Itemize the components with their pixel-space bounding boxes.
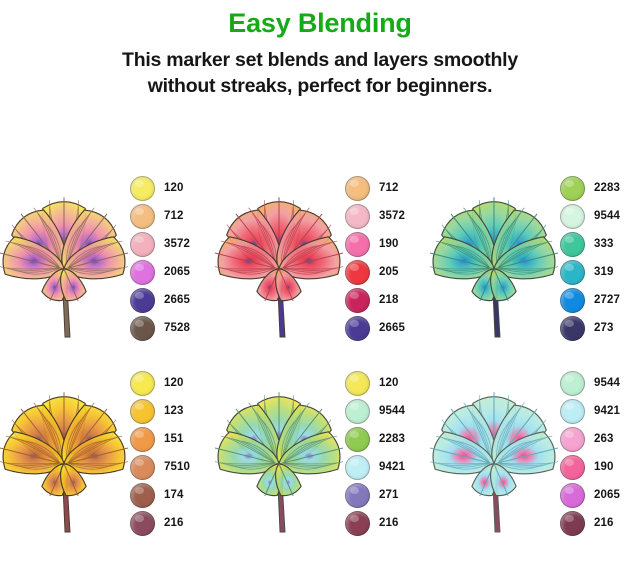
marker-color-dot	[345, 288, 370, 313]
marker-color-dot	[345, 511, 370, 536]
marker-swatch-row: 263	[560, 425, 640, 453]
marker-code-label: 9544	[594, 377, 620, 389]
subtitle-line-2: without streaks, perfect for beginners.	[0, 74, 640, 100]
marker-color-dot	[560, 204, 585, 229]
marker-code-label: 151	[164, 433, 184, 445]
marker-swatch-list: 120954422839421271216	[343, 362, 430, 537]
marker-swatch-row: 120	[345, 369, 430, 397]
marker-color-dot	[560, 511, 585, 536]
marker-code-label: 712	[164, 210, 184, 222]
marker-swatch-row: 9544	[345, 397, 430, 425]
marker-swatch-list: 954494212631902065216	[558, 362, 640, 537]
page-subtitle: This marker set blends and layers smooth…	[0, 39, 640, 99]
marker-swatch-row: 319	[560, 258, 640, 286]
marker-code-label: 9421	[379, 461, 405, 473]
marker-color-dot	[560, 260, 585, 285]
marker-swatch-row: 2283	[345, 425, 430, 453]
marker-code-label: 3572	[164, 238, 190, 250]
marker-color-dot	[130, 483, 155, 508]
marker-code-label: 2065	[164, 266, 190, 278]
marker-swatch-row: 218	[345, 286, 430, 314]
marker-code-label: 2283	[594, 182, 620, 194]
marker-swatch-row: 3572	[130, 230, 215, 258]
marker-code-label: 9544	[379, 405, 405, 417]
panel-yellow-orange-brown: 1201231517510174216	[0, 352, 215, 547]
marker-color-dot	[345, 455, 370, 480]
marker-color-dot	[560, 399, 585, 424]
marker-color-dot	[345, 176, 370, 201]
marker-code-label: 120	[164, 182, 184, 194]
leaf-illustration	[430, 360, 558, 540]
marker-code-label: 319	[594, 266, 614, 278]
marker-swatch-row: 123	[130, 397, 215, 425]
marker-code-label: 263	[594, 433, 614, 445]
marker-color-dot	[130, 399, 155, 424]
marker-code-label: 7528	[164, 322, 190, 334]
marker-swatch-row: 120	[130, 369, 215, 397]
leaf-illustration	[215, 360, 343, 540]
marker-code-label: 205	[379, 266, 399, 278]
leaf-panel-grid: 1207123572206526657528712357219020521826…	[0, 157, 640, 563]
marker-code-label: 123	[164, 405, 184, 417]
marker-swatch-row: 216	[345, 509, 430, 537]
leaf-illustration	[215, 165, 343, 345]
panel-mint-blue-pink: 954494212631902065216	[430, 352, 640, 547]
marker-swatch-row: 216	[130, 509, 215, 537]
marker-swatch-row: 712	[130, 202, 215, 230]
marker-color-dot	[345, 483, 370, 508]
marker-color-dot	[130, 511, 155, 536]
marker-code-label: 3572	[379, 210, 405, 222]
marker-code-label: 2065	[594, 489, 620, 501]
panel-yellow-pink-purple: 1207123572206526657528	[0, 157, 215, 352]
leaf-artwork	[0, 165, 128, 345]
marker-swatch-row: 333	[560, 230, 640, 258]
marker-color-dot	[560, 288, 585, 313]
marker-code-label: 216	[379, 517, 399, 529]
marker-swatch-row: 190	[560, 453, 640, 481]
marker-swatch-row: 2065	[560, 481, 640, 509]
marker-swatch-row: 9544	[560, 369, 640, 397]
marker-color-dot	[130, 371, 155, 396]
marker-swatch-row: 7528	[130, 314, 215, 342]
marker-color-dot	[130, 204, 155, 229]
leaf-artwork	[430, 360, 558, 540]
marker-swatch-row: 9421	[560, 397, 640, 425]
marker-swatch-row: 2727	[560, 286, 640, 314]
marker-code-label: 218	[379, 294, 399, 306]
marker-code-label: 712	[379, 182, 399, 194]
marker-swatch-row: 216	[560, 509, 640, 537]
marker-color-dot	[130, 232, 155, 257]
marker-color-dot	[130, 260, 155, 285]
marker-swatch-row: 174	[130, 481, 215, 509]
marker-color-dot	[130, 427, 155, 452]
marker-color-dot	[345, 204, 370, 229]
marker-code-label: 2283	[379, 433, 405, 445]
leaf-artwork	[0, 360, 128, 540]
marker-color-dot	[560, 483, 585, 508]
leaf-artwork	[430, 165, 558, 345]
page-title: Easy Blending	[0, 4, 640, 39]
marker-code-label: 271	[379, 489, 399, 501]
marker-swatch-list: 228395443333192727273	[558, 167, 640, 342]
marker-color-dot	[130, 316, 155, 341]
marker-color-dot	[345, 316, 370, 341]
panel-green-teal-blue: 228395443333192727273	[430, 157, 640, 352]
marker-code-label: 273	[594, 322, 614, 334]
marker-code-label: 7510	[164, 461, 190, 473]
leaf-illustration	[0, 360, 128, 540]
marker-color-dot	[345, 427, 370, 452]
marker-color-dot	[345, 399, 370, 424]
leaf-artwork	[215, 165, 343, 345]
marker-code-label: 9544	[594, 210, 620, 222]
marker-color-dot	[345, 371, 370, 396]
marker-swatch-list: 1201231517510174216	[128, 362, 215, 537]
marker-color-dot	[560, 455, 585, 480]
subtitle-line-1: This marker set blends and layers smooth…	[0, 48, 640, 74]
marker-swatch-row: 7510	[130, 453, 215, 481]
marker-code-label: 216	[164, 517, 184, 529]
marker-color-dot	[130, 288, 155, 313]
panel-orange-red-purple: 71235721902052182665	[215, 157, 430, 352]
marker-code-label: 190	[594, 461, 614, 473]
marker-code-label: 9421	[594, 405, 620, 417]
marker-code-label: 2727	[594, 294, 620, 306]
marker-swatch-list: 1207123572206526657528	[128, 167, 215, 342]
leaf-illustration	[0, 165, 128, 345]
leaf-artwork	[215, 360, 343, 540]
marker-swatch-row: 190	[345, 230, 430, 258]
marker-color-dot	[345, 232, 370, 257]
marker-swatch-row: 9421	[345, 453, 430, 481]
header-block: Easy Blending This marker set blends and…	[0, 0, 640, 100]
marker-code-label: 2665	[379, 322, 405, 334]
marker-color-dot	[560, 232, 585, 257]
marker-code-label: 120	[379, 377, 399, 389]
marker-swatch-row: 712	[345, 174, 430, 202]
marker-color-dot	[560, 371, 585, 396]
marker-code-label: 120	[164, 377, 184, 389]
marker-swatch-row: 151	[130, 425, 215, 453]
marker-swatch-row: 120	[130, 174, 215, 202]
marker-color-dot	[130, 176, 155, 201]
leaf-illustration	[430, 165, 558, 345]
marker-color-dot	[130, 455, 155, 480]
marker-swatch-row: 2065	[130, 258, 215, 286]
marker-code-label: 333	[594, 238, 614, 250]
marker-swatch-row: 271	[345, 481, 430, 509]
marker-color-dot	[560, 427, 585, 452]
marker-color-dot	[560, 316, 585, 341]
marker-code-label: 174	[164, 489, 184, 501]
marker-swatch-row: 273	[560, 314, 640, 342]
marker-code-label: 2665	[164, 294, 190, 306]
marker-swatch-row: 2665	[345, 314, 430, 342]
marker-swatch-row: 2665	[130, 286, 215, 314]
marker-swatch-row: 2283	[560, 174, 640, 202]
marker-code-label: 190	[379, 238, 399, 250]
marker-color-dot	[560, 176, 585, 201]
panel-yellow-green-blue: 120954422839421271216	[215, 352, 430, 547]
marker-code-label: 216	[594, 517, 614, 529]
marker-swatch-row: 9544	[560, 202, 640, 230]
marker-swatch-list: 71235721902052182665	[343, 167, 430, 342]
marker-color-dot	[345, 260, 370, 285]
marker-swatch-row: 3572	[345, 202, 430, 230]
marker-swatch-row: 205	[345, 258, 430, 286]
